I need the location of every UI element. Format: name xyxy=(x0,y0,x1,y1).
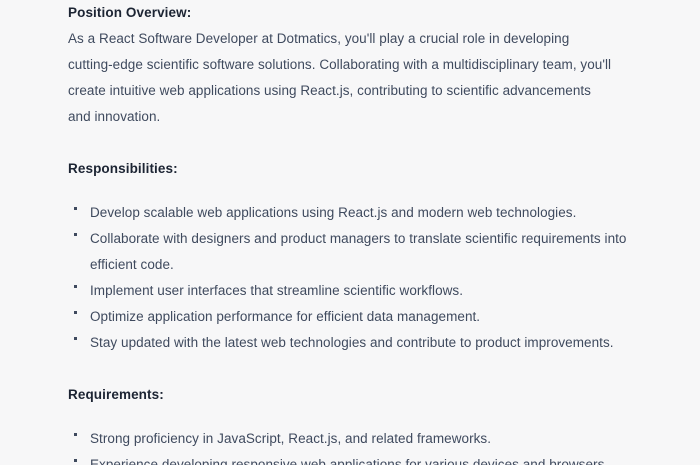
list-spacer xyxy=(68,408,640,426)
list-item: Optimize application performance for eff… xyxy=(68,304,628,330)
bullet-dot-icon xyxy=(74,285,77,288)
list-item: Experience developing responsive web app… xyxy=(68,452,628,465)
bullet-dot-icon xyxy=(74,433,77,436)
list-item-text: Strong proficiency in JavaScript, React.… xyxy=(90,431,491,446)
responsibilities-heading: Responsibilities: xyxy=(68,156,640,182)
responsibilities-section: Responsibilities: Develop scalable web a… xyxy=(68,156,640,356)
job-description-panel: Position Overview: As a React Software D… xyxy=(0,0,700,465)
section-spacer xyxy=(68,356,640,382)
list-item-text: Stay updated with the latest web technol… xyxy=(90,335,614,350)
section-spacer xyxy=(68,130,640,156)
position-overview-paragraph: As a React Software Developer at Dotmati… xyxy=(68,26,616,130)
requirements-section: Requirements: Strong proficiency in Java… xyxy=(68,382,640,465)
list-item: Collaborate with designers and product m… xyxy=(68,226,628,278)
list-item: Develop scalable web applications using … xyxy=(68,200,628,226)
list-item-text: Implement user interfaces that streamlin… xyxy=(90,283,463,298)
list-item: Stay updated with the latest web technol… xyxy=(68,330,628,356)
list-spacer xyxy=(68,182,640,200)
list-item-text: Develop scalable web applications using … xyxy=(90,205,576,220)
responsibilities-list: Develop scalable web applications using … xyxy=(68,200,628,356)
list-item-text: Optimize application performance for eff… xyxy=(90,309,480,324)
requirements-list: Strong proficiency in JavaScript, React.… xyxy=(68,426,628,465)
bullet-dot-icon xyxy=(74,207,77,210)
list-item: Strong proficiency in JavaScript, React.… xyxy=(68,426,628,452)
bullet-dot-icon xyxy=(74,233,77,236)
requirements-heading: Requirements: xyxy=(68,382,640,408)
list-item-text: Experience developing responsive web app… xyxy=(90,457,608,465)
bullet-dot-icon xyxy=(74,459,77,462)
bullet-dot-icon xyxy=(74,311,77,314)
bullet-dot-icon xyxy=(74,337,77,340)
list-item-text: Collaborate with designers and product m… xyxy=(90,231,626,272)
list-item: Implement user interfaces that streamlin… xyxy=(68,278,628,304)
position-overview-section: Position Overview: As a React Software D… xyxy=(68,0,640,130)
position-overview-heading: Position Overview: xyxy=(68,0,640,26)
